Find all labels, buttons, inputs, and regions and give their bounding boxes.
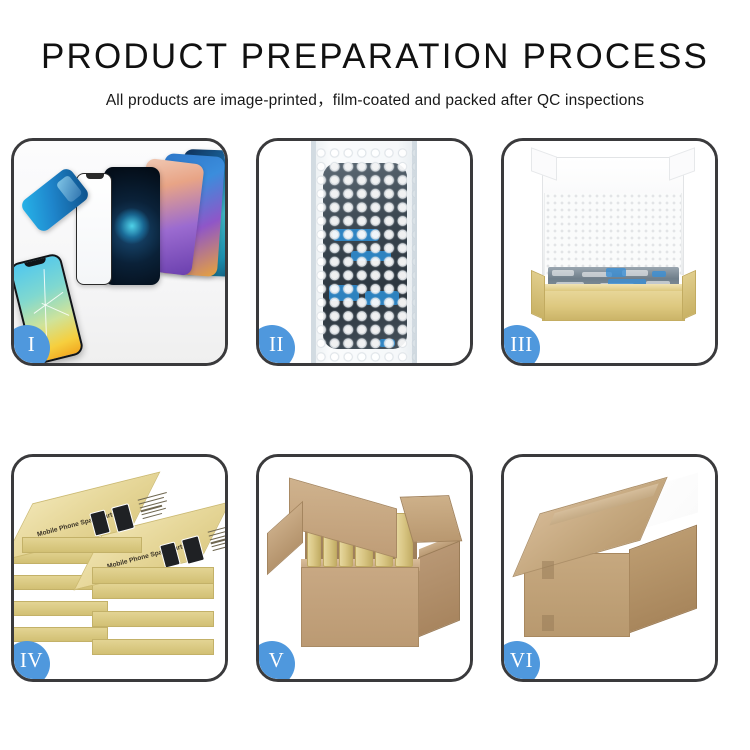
step-1-illustration xyxy=(14,141,225,363)
step-panel-5: V xyxy=(256,454,473,682)
page-title: PRODUCT PREPARATION PROCESS xyxy=(0,39,750,74)
box-right-wall xyxy=(682,270,696,320)
carton-front-panel xyxy=(301,567,419,647)
bubble-wrap-outline xyxy=(315,147,415,363)
box-rim xyxy=(542,284,685,291)
step-6-illustration xyxy=(504,457,715,679)
step-panel-1: I xyxy=(11,138,228,366)
header: PRODUCT PREPARATION PROCESS All products… xyxy=(0,0,750,110)
carton-tab xyxy=(542,615,554,631)
step-5-illustration xyxy=(259,457,470,679)
step-4-illustration: Mobile Phone Spare Parts Mobile Phone Sp… xyxy=(14,457,225,679)
step-panel-2: II xyxy=(256,138,473,366)
step-3-illustration xyxy=(504,141,715,363)
product-preparation-infographic: PRODUCT PREPARATION PROCESS All products… xyxy=(0,0,750,750)
step-2-illustration xyxy=(259,141,470,363)
step-panel-3: III xyxy=(501,138,718,366)
carton-tab xyxy=(542,561,554,579)
step-panel-4: Mobile Phone Spare Parts Mobile Phone Sp… xyxy=(11,454,228,682)
carton-right-panel xyxy=(418,541,460,638)
box-front-panel xyxy=(542,289,685,321)
steps-grid: I II xyxy=(0,138,750,693)
step-panel-6: VI xyxy=(501,454,718,682)
foam-lining xyxy=(544,193,682,275)
box-left-wall xyxy=(531,270,545,320)
phone-screen-black xyxy=(104,167,160,285)
page-subtitle: All products are image-printed，film-coat… xyxy=(0,88,750,110)
